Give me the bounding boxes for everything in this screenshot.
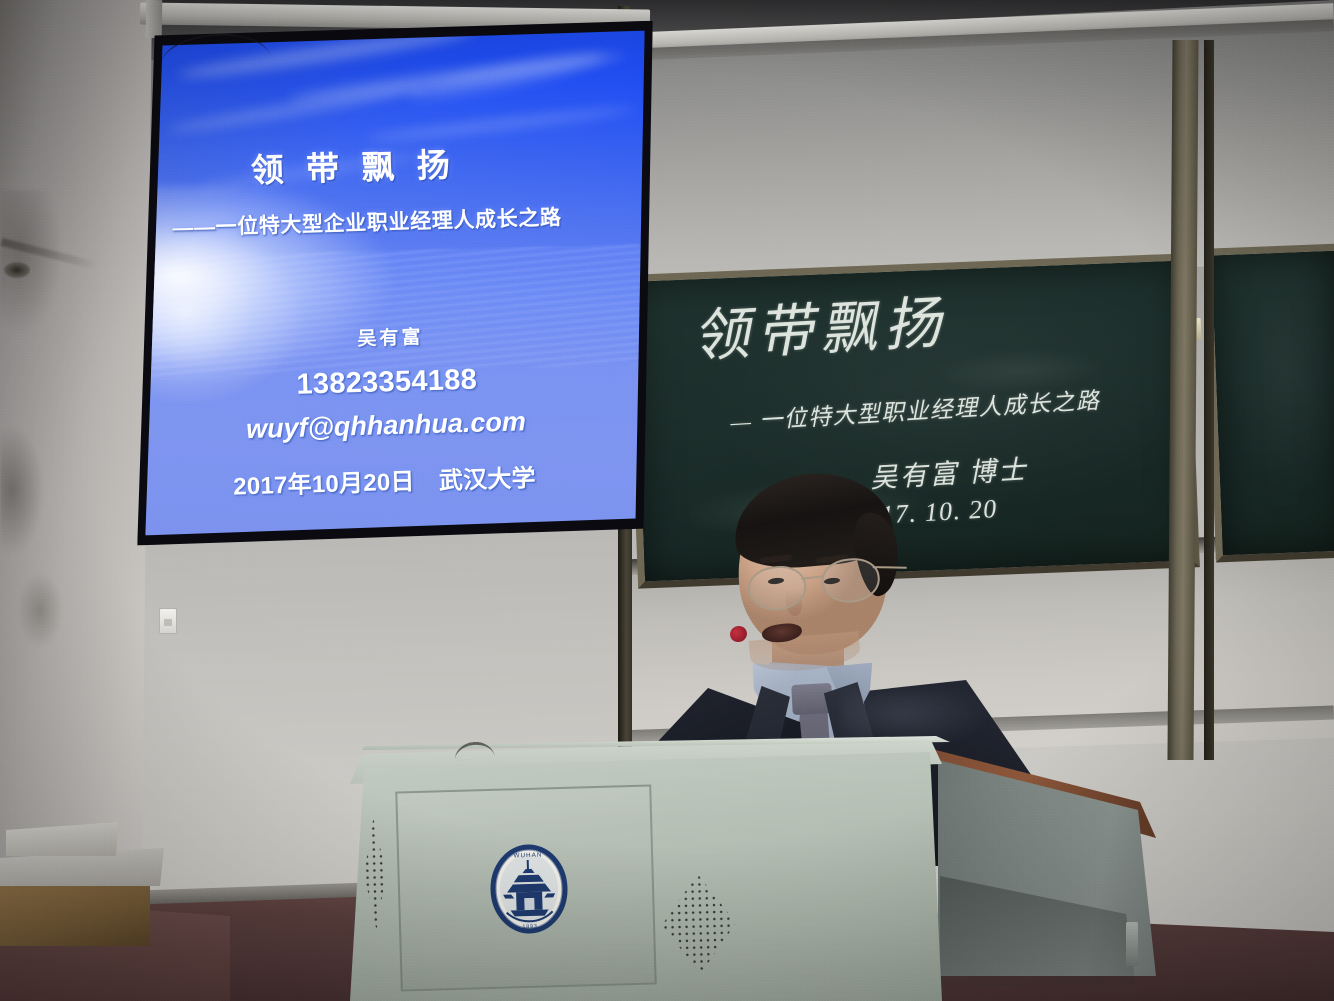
slide-text-block: 领 带 飘 扬 ——一位特大型企业职业经理人成长之路 吴有富 138233541…	[131, 15, 657, 550]
slide-date-venue: 2017年10月20日 武汉大学	[139, 456, 630, 505]
wuhan-university-emblem-icon: WUHAN 1893	[489, 843, 569, 935]
wall-mullion-center-dark	[1204, 40, 1214, 760]
lectern-latch[interactable]	[1126, 922, 1138, 966]
svg-text:WUHAN: WUHAN	[514, 852, 543, 860]
slide-title: 领 带 飘 扬	[250, 134, 611, 192]
lectern[interactable]: WUHAN 1893	[350, 726, 1150, 1001]
microphone-windscreen	[728, 624, 749, 645]
projection-screen[interactable]: 领 带 飘 扬 ——一位特大型企业职业经理人成长之路 吴有富 138233541…	[131, 15, 657, 550]
glasses-bridge	[801, 575, 823, 580]
lens-left	[746, 563, 808, 613]
slide-phone: 13823354188	[136, 359, 637, 406]
lens-right	[820, 556, 882, 606]
wall-damage-hole	[4, 262, 30, 278]
glasses-temple	[873, 566, 907, 569]
slide-speaker-name: 吴有富	[135, 316, 646, 357]
slide-email: wuyf@qhhanhua.com	[138, 403, 635, 448]
slide-surface: 领 带 飘 扬 ——一位特大型企业职业经理人成长之路 吴有富 138233541…	[131, 15, 657, 550]
blackboard-right-panel[interactable]	[1204, 243, 1334, 562]
lecture-hall-photo: 领带飘扬 — 一位特大型职业经理人成长之路 吴有富 博士 2017. 10. 2…	[0, 0, 1334, 1001]
cardboard-box	[0, 878, 150, 946]
blackboard-title: 领带飘扬	[690, 277, 950, 373]
wall-switch-icon[interactable]	[159, 608, 177, 634]
wall-mullion-center	[1167, 40, 1198, 760]
svg-text:1893: 1893	[522, 924, 537, 930]
slide-subtitle: ——一位特大型企业职业经理人成长之路	[172, 199, 643, 242]
